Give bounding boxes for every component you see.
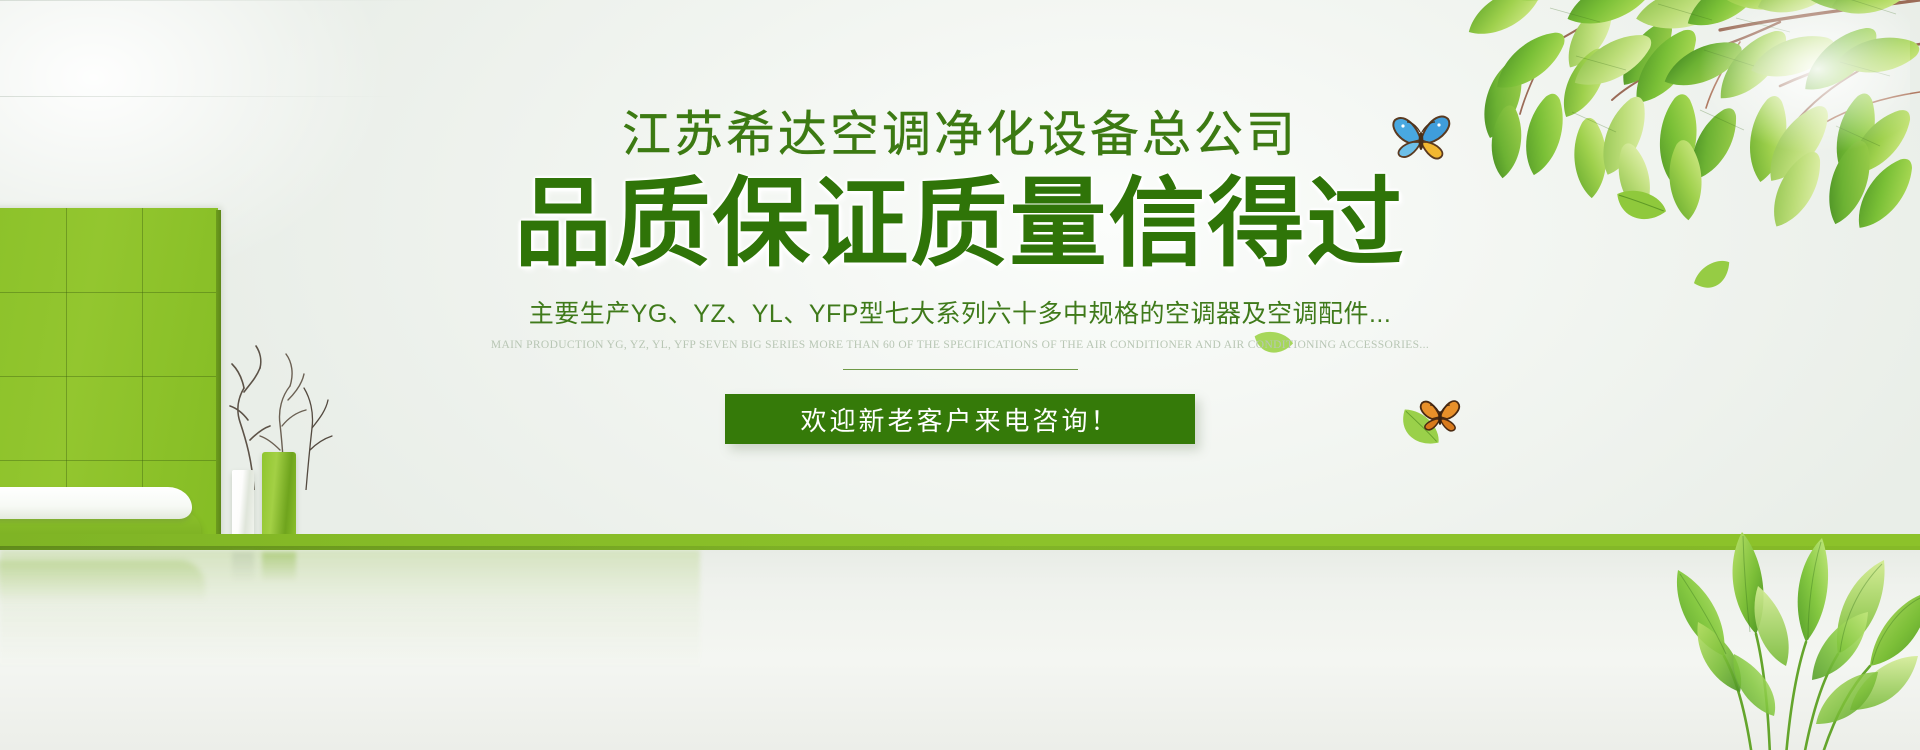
headline-slogan: 品质保证质量信得过 [515,175,1406,274]
contact-cta-button[interactable]: 欢迎新老客户来电咨询！ [725,394,1195,444]
banner-content: 江苏希达空调净化设备总公司 品质保证质量信得过 主要生产YG、YZ、YL、YFP… [0,0,1920,750]
divider [843,369,1078,370]
product-subtitle: 主要生产YG、YZ、YL、YFP型七大系列六十多中规格的空调器及空调配件... [529,294,1392,330]
company-name: 江苏希达空调净化设备总公司 [622,110,1298,161]
product-subtitle-english: MAIN PRODUCTION YG, YZ, YL, YFP SEVEN BI… [491,339,1429,351]
hero-banner: 江苏希达空调净化设备总公司 品质保证质量信得过 主要生产YG、YZ、YL、YFP… [0,0,1920,750]
